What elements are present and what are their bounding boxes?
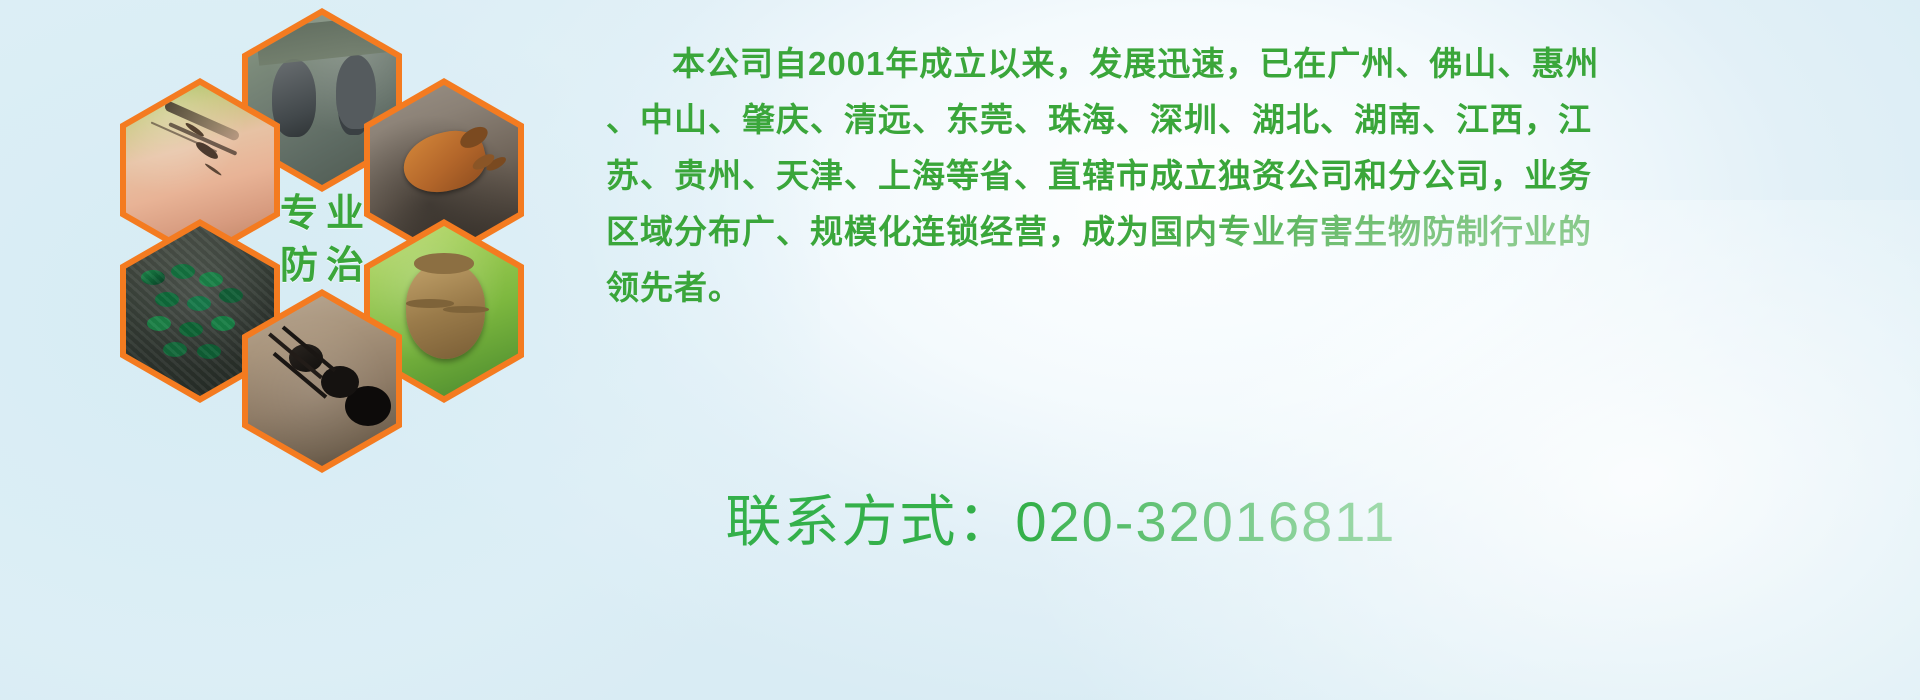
slogan-line-2: 防治 xyxy=(272,247,372,285)
contact-block: 联系方式：020-32016811 159-1588-1110 xyxy=(620,405,1820,700)
intro-line-2: 、中山、肇庆、清远、东莞、珠海、深圳、湖北、湖南、江西，江 xyxy=(606,92,1906,148)
contact-primary-row: 联系方式：020-32016811 xyxy=(620,405,1820,639)
intro-line-4: 区域分布广、规模化连锁经营，成为国内专业有害生物防制行业的 xyxy=(606,204,1906,260)
intro-line-3: 苏、贵州、天津、上海等省、直辖市成立独资公司和分公司，业务 xyxy=(606,148,1906,204)
contact-label: 联系方式： xyxy=(725,490,1015,553)
banner-canvas: 专业 防治 本公司自2001年成立以来，发展迅速，已在广州、佛山、惠州 、中山、… xyxy=(0,0,1920,700)
honeycomb-cluster: 专业 防治 xyxy=(92,8,592,568)
intro-line-1: 本公司自2001年成立以来，发展迅速，已在广州、佛山、惠州 xyxy=(606,36,1906,92)
contact-secondary-row: 159-1588-1110 xyxy=(620,639,1820,700)
contact-phone-landline[interactable]: 020-32016811 xyxy=(1015,490,1396,553)
slogan-line-1: 专业 xyxy=(272,195,372,233)
company-intro-paragraph: 本公司自2001年成立以来，发展迅速，已在广州、佛山、惠州 、中山、肇庆、清远、… xyxy=(606,36,1906,316)
intro-line-5: 领先者。 xyxy=(606,260,1906,316)
